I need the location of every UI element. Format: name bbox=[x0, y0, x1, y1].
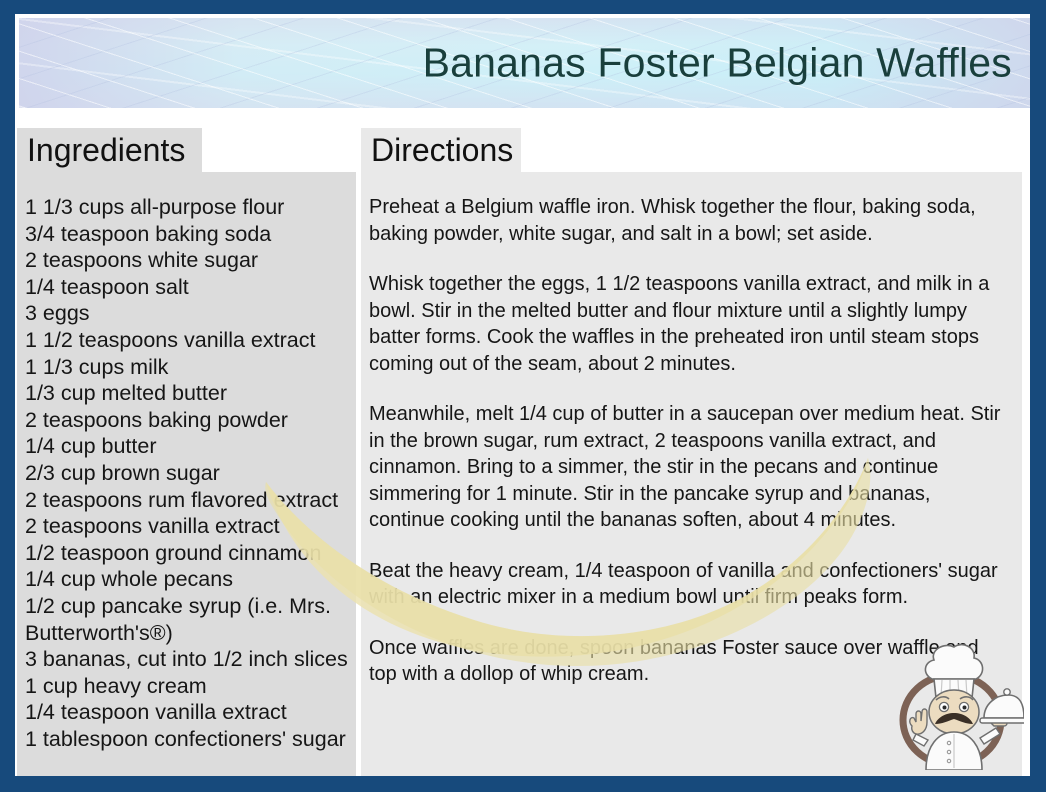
slide-border-left bbox=[0, 0, 15, 792]
direction-paragraph: Once waffles are done, spoon bananas Fos… bbox=[369, 635, 1006, 688]
slide-border-right bbox=[1030, 0, 1046, 792]
list-item: 1 1/2 teaspoons vanilla extract bbox=[25, 327, 348, 354]
direction-paragraph: Whisk together the eggs, 1 1/2 teaspoons… bbox=[369, 271, 1006, 377]
page-title: Bananas Foster Belgian Waffles bbox=[423, 40, 1012, 87]
title-banner: Bananas Foster Belgian Waffles bbox=[19, 18, 1030, 108]
list-item: 1/4 teaspoon vanilla extract bbox=[25, 699, 348, 726]
directions-heading: Directions bbox=[361, 128, 521, 172]
list-item: 1/2 cup pancake syrup (i.e. Mrs. Butterw… bbox=[25, 593, 348, 646]
directions-heading-label: Directions bbox=[371, 132, 513, 169]
list-item: 1 1/3 cups milk bbox=[25, 354, 348, 381]
ingredients-heading: Ingredients bbox=[17, 128, 202, 172]
list-item: 2 teaspoons white sugar bbox=[25, 247, 348, 274]
list-item: 1/4 teaspoon salt bbox=[25, 274, 348, 301]
ingredients-heading-label: Ingredients bbox=[27, 132, 185, 169]
slide-border-top bbox=[0, 0, 1046, 14]
recipe-slide: Bananas Foster Belgian Waffles Ingredien… bbox=[0, 0, 1046, 792]
list-item: 1 1/3 cups all-purpose flour bbox=[25, 194, 348, 221]
list-item: 3 bananas, cut into 1/2 inch slices bbox=[25, 646, 348, 673]
list-item: 3 eggs bbox=[25, 300, 348, 327]
list-item: 3/4 teaspoon baking soda bbox=[25, 221, 348, 248]
list-item: 1/4 cup butter bbox=[25, 433, 348, 460]
ingredients-panel: 1 1/3 cups all-purpose flour 3/4 teaspoo… bbox=[17, 172, 356, 776]
slide-border-bottom bbox=[0, 776, 1046, 792]
direction-paragraph: Preheat a Belgium waffle iron. Whisk tog… bbox=[369, 194, 1006, 247]
list-item: 1 tablespoon confectioners' sugar bbox=[25, 726, 348, 753]
list-item: 1/3 cup melted butter bbox=[25, 380, 348, 407]
list-item: 2 teaspoons rum flavored extract bbox=[25, 487, 348, 514]
directions-panel: Preheat a Belgium waffle iron. Whisk tog… bbox=[361, 172, 1022, 776]
list-item: 2 teaspoons vanilla extract bbox=[25, 513, 348, 540]
list-item: 1 cup heavy cream bbox=[25, 673, 348, 700]
list-item: 2 teaspoons baking powder bbox=[25, 407, 348, 434]
list-item: 2/3 cup brown sugar bbox=[25, 460, 348, 487]
direction-paragraph: Meanwhile, melt 1/4 cup of butter in a s… bbox=[369, 401, 1006, 534]
list-item: 1/4 cup whole pecans bbox=[25, 566, 348, 593]
list-item: 1/2 teaspoon ground cinnamon bbox=[25, 540, 348, 567]
direction-paragraph: Beat the heavy cream, 1/4 teaspoon of va… bbox=[369, 558, 1006, 611]
